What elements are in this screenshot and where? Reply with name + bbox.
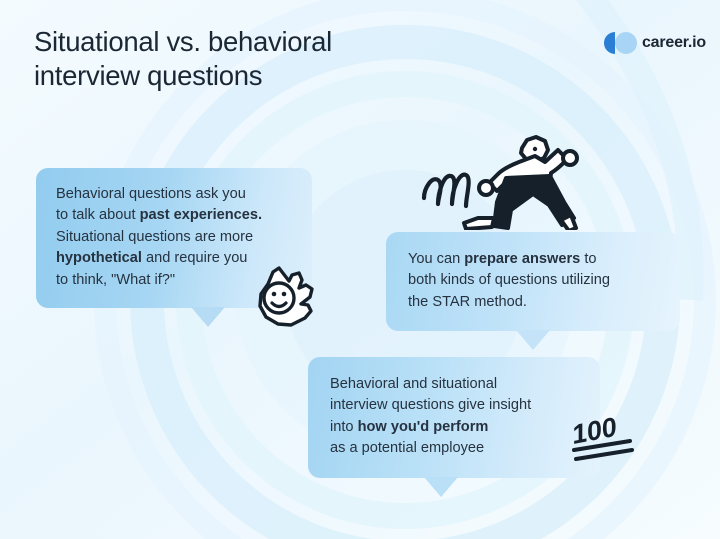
bubble-tail [424, 477, 458, 497]
brand-logo[interactable]: career.io [604, 32, 706, 54]
logo-dot [615, 32, 637, 54]
speech-bubble-star-method: You can prepare answers toboth kinds of … [386, 232, 680, 331]
bubble-tail [516, 330, 550, 350]
logo-half-circle [604, 32, 615, 54]
speech-bubble-behavioral-text: Behavioral questions ask youto talk abou… [56, 184, 294, 291]
infographic-canvas: Situational vs. behavioral interview que… [0, 0, 720, 539]
running-person-icon [418, 118, 608, 230]
bubble-tail [191, 307, 225, 327]
brand-name: career.io [642, 34, 706, 52]
career-io-logo-icon [604, 32, 634, 54]
speech-bubble-behavioral: Behavioral questions ask youto talk abou… [36, 168, 312, 308]
speech-bubble-star-method-text: You can prepare answers toboth kinds of … [408, 249, 662, 313]
speech-bubble-insight: Behavioral and situationalinterview ques… [308, 357, 600, 478]
page-title: Situational vs. behavioral interview que… [34, 25, 454, 94]
speech-bubble-insight-text: Behavioral and situationalinterview ques… [330, 374, 582, 460]
